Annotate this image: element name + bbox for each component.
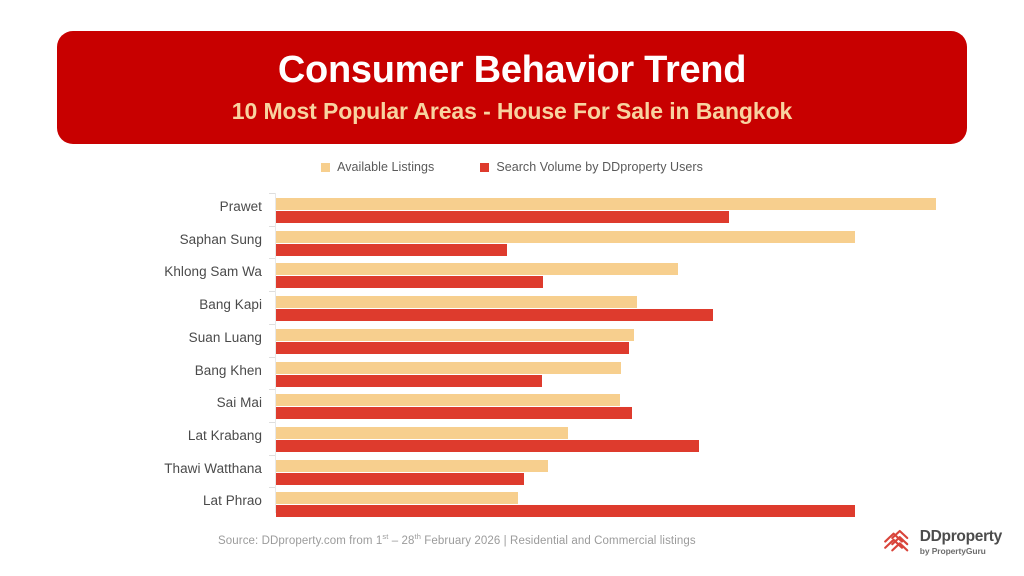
axis-tick <box>269 324 275 325</box>
ddproperty-logo[interactable]: DDproperty by PropertyGuru <box>883 528 1002 556</box>
category-label: Lat Phrao <box>0 493 262 508</box>
axis-tick <box>269 422 275 423</box>
axis-tick <box>269 455 275 456</box>
chart-row: Lat Krabang <box>0 422 1024 455</box>
legend-label: Available Listings <box>337 160 434 174</box>
bar-search-volume[interactable] <box>276 244 507 256</box>
infographic-root: Consumer Behavior Trend 10 Most Popular … <box>0 0 1024 576</box>
header-banner: Consumer Behavior Trend 10 Most Popular … <box>57 31 967 144</box>
chart-row: Prawet <box>0 193 1024 226</box>
bar-available-listings[interactable] <box>276 427 568 439</box>
chart-row: Thawi Watthana <box>0 455 1024 488</box>
source-middle: – 28 <box>388 535 414 547</box>
bar-available-listings[interactable] <box>276 296 637 308</box>
page-title: Consumer Behavior Trend <box>278 49 746 92</box>
axis-tick <box>269 193 275 194</box>
category-label: Sai Mai <box>0 395 262 410</box>
bar-search-volume[interactable] <box>276 342 629 354</box>
square-marker-icon <box>480 163 489 172</box>
legend-item-available-listings[interactable]: Available Listings <box>321 160 434 174</box>
category-label: Suan Luang <box>0 330 262 345</box>
bar-search-volume[interactable] <box>276 276 543 288</box>
bar-search-volume[interactable] <box>276 473 524 485</box>
legend-item-search-volume[interactable]: Search Volume by DDproperty Users <box>480 160 703 174</box>
bar-available-listings[interactable] <box>276 460 548 472</box>
bar-search-volume[interactable] <box>276 309 713 321</box>
bar-search-volume[interactable] <box>276 407 632 419</box>
axis-tick <box>269 291 275 292</box>
bar-available-listings[interactable] <box>276 329 634 341</box>
chart-row: Lat Phrao <box>0 487 1024 520</box>
bar-available-listings[interactable] <box>276 198 936 210</box>
bar-search-volume[interactable] <box>276 505 855 517</box>
logo-name: DDproperty <box>920 529 1002 545</box>
source-prefix: Source: DDproperty.com from 1 <box>218 535 382 547</box>
category-label: Bang Khen <box>0 363 262 378</box>
bar-available-listings[interactable] <box>276 263 678 275</box>
bar-available-listings[interactable] <box>276 492 518 504</box>
axis-tick <box>269 389 275 390</box>
bar-available-listings[interactable] <box>276 394 620 406</box>
bar-search-volume[interactable] <box>276 375 542 387</box>
bar-available-listings[interactable] <box>276 362 621 374</box>
axis-tick <box>269 258 275 259</box>
chart-legend: Available Listings Search Volume by DDpr… <box>0 160 1024 174</box>
axis-tick <box>269 487 275 488</box>
category-label: Prawet <box>0 199 262 214</box>
axis-tick <box>269 357 275 358</box>
chart-row: Saphan Sung <box>0 226 1024 259</box>
category-label: Lat Krabang <box>0 428 262 443</box>
bar-chart: PrawetSaphan SungKhlong Sam WaBang KapiS… <box>0 193 1024 513</box>
axis-tick <box>269 226 275 227</box>
bar-search-volume[interactable] <box>276 440 699 452</box>
category-label: Saphan Sung <box>0 232 262 247</box>
chart-row: Khlong Sam Wa <box>0 258 1024 291</box>
logo-text-block: DDproperty by PropertyGuru <box>920 529 1002 555</box>
category-label: Khlong Sam Wa <box>0 264 262 279</box>
ddproperty-roof-logo-icon <box>883 528 913 556</box>
source-note: Source: DDproperty.com from 1st – 28th F… <box>218 532 696 547</box>
chart-row: Bang Khen <box>0 357 1024 390</box>
bar-available-listings[interactable] <box>276 231 855 243</box>
logo-tagline: by PropertyGuru <box>920 547 1002 556</box>
bar-search-volume[interactable] <box>276 211 729 223</box>
chart-row: Suan Luang <box>0 324 1024 357</box>
square-marker-icon <box>321 163 330 172</box>
page-subtitle: 10 Most Popular Areas - House For Sale i… <box>232 98 792 126</box>
legend-label: Search Volume by DDproperty Users <box>496 160 703 174</box>
category-label: Thawi Watthana <box>0 461 262 476</box>
category-label: Bang Kapi <box>0 297 262 312</box>
source-suffix: February 2026 | Residential and Commerci… <box>421 535 696 547</box>
footer: Source: DDproperty.com from 1st – 28th F… <box>0 528 1024 576</box>
chart-row: Bang Kapi <box>0 291 1024 324</box>
chart-row: Sai Mai <box>0 389 1024 422</box>
